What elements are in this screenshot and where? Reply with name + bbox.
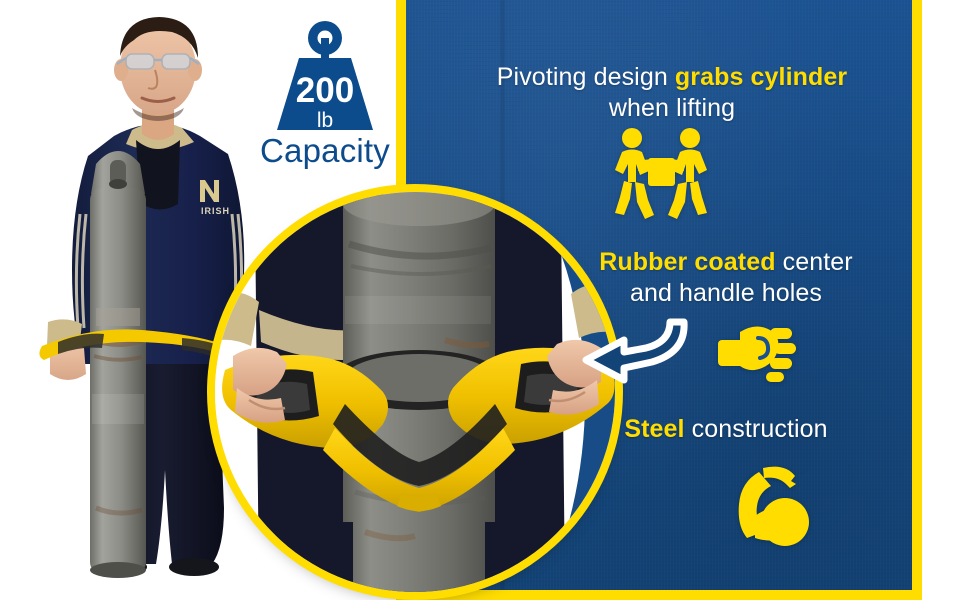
capacity-weight-unit: lb bbox=[317, 109, 333, 132]
feature-1-line2: when lifting bbox=[609, 94, 735, 122]
infographic-canvas: IRISH bbox=[0, 0, 970, 600]
feature-1-line1-bold: grabs cylinder bbox=[675, 63, 847, 91]
flexed-bicep-icon bbox=[733, 464, 813, 552]
divider-stripe-right bbox=[912, 0, 922, 600]
capacity-badge: 200 lb Capacity bbox=[255, 18, 395, 170]
feature-2-line2: and handle holes bbox=[630, 279, 822, 307]
weight-icon: 200 lb bbox=[255, 18, 395, 136]
capacity-weight-value: 200 bbox=[296, 71, 354, 110]
feature-2-line1-bold: Rubber coated bbox=[599, 248, 775, 276]
feature-text-pivoting-design: Pivoting design grabs cylinder when lift… bbox=[452, 62, 892, 123]
feature-3-line1-plain: construction bbox=[685, 415, 828, 443]
capacity-label: Capacity bbox=[255, 132, 395, 170]
svg-text:IRISH: IRISH bbox=[201, 206, 230, 216]
feature-2-line1-plain: center bbox=[776, 248, 853, 276]
curved-arrow-pointing-left bbox=[566, 306, 694, 390]
feature-1-line1-plain: Pivoting design bbox=[497, 63, 675, 91]
feature-3-line1-bold: Steel bbox=[624, 415, 684, 443]
divider-stripe-bottom bbox=[396, 590, 922, 600]
feature-text-rubber-coated: Rubber coated center and handle holes bbox=[560, 247, 892, 308]
two-people-lifting-icon bbox=[613, 126, 709, 220]
fist-grip-icon bbox=[718, 322, 796, 384]
cylinder-lifter-closeup-photo bbox=[215, 192, 615, 592]
